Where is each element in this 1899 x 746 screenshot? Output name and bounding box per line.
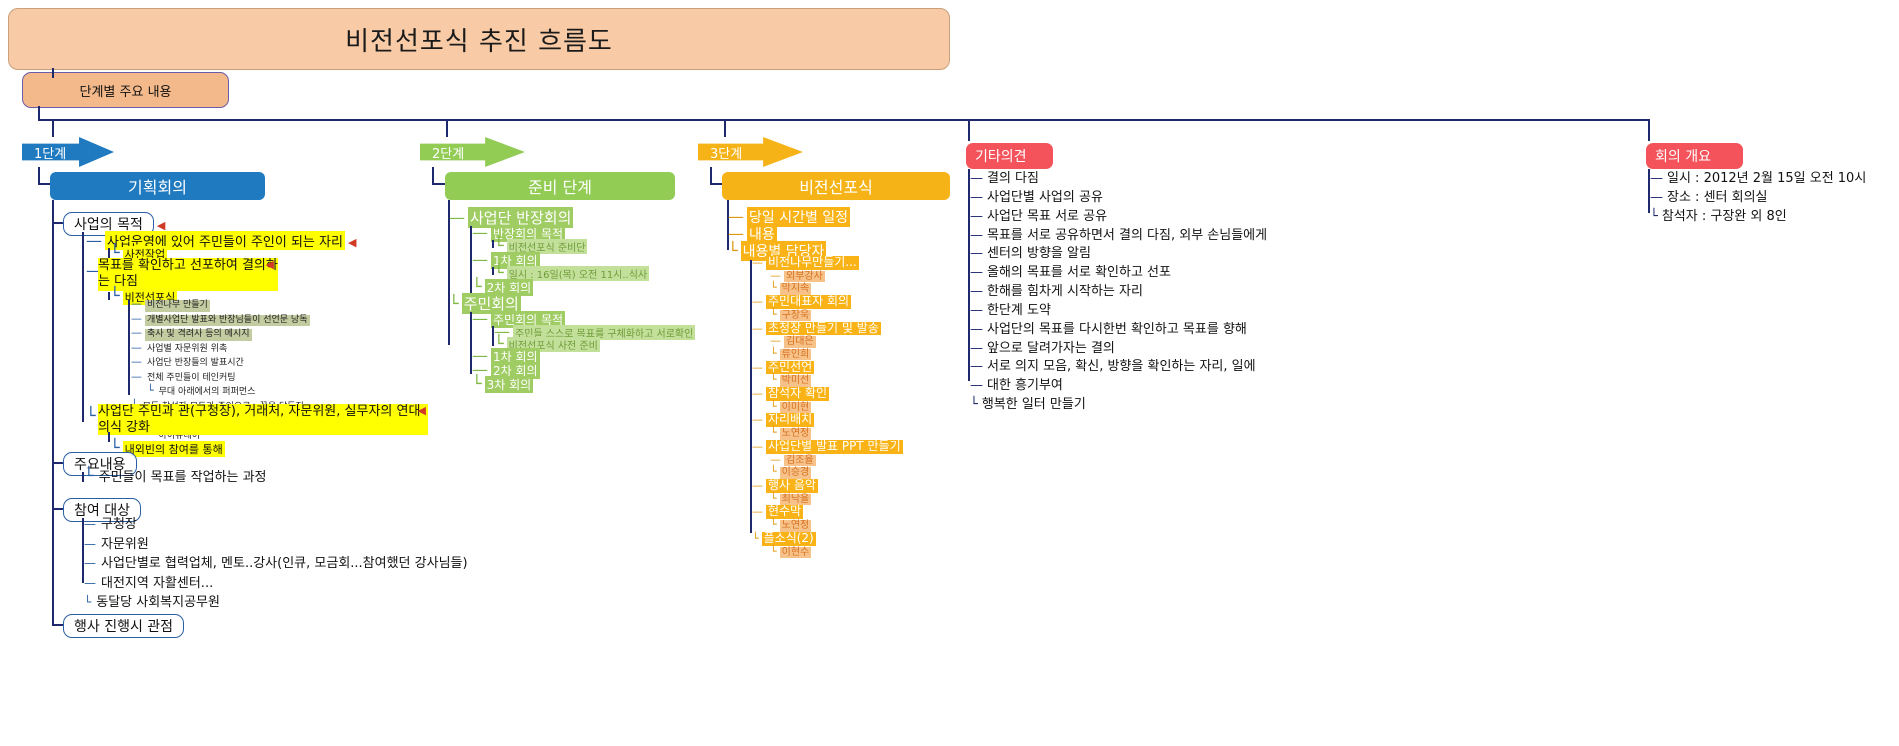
col2-item-2-4-label: 3차 회의 bbox=[485, 376, 534, 393]
connector-bus-stage2 bbox=[446, 119, 448, 137]
list-item-label: 행복한 일터 만들기 bbox=[982, 397, 1086, 412]
stage1-spine bbox=[52, 200, 54, 625]
list-item-label: 목표를 서로 공유하면서 결의 다짐, 외부 손님들에게 bbox=[987, 228, 1267, 243]
col3-owner-list: —비전나무만들기...—외부강사└막지속—주민대표자 회의└구장욱—초청장 만들… bbox=[752, 256, 903, 558]
etc-header[interactable]: 기타의견 bbox=[966, 143, 1053, 169]
col1-node-event-view[interactable]: 행사 진행시 관점 bbox=[63, 614, 184, 638]
etc-list: —결의 다짐—사업단별 사업의 공유—사업단 목표 서로 공유—목표를 서로 공… bbox=[970, 170, 1267, 415]
list-item[interactable]: —사업단의 목표를 다시한번 확인하고 목표를 향해 bbox=[970, 321, 1267, 340]
list-item-label: 참석자 : 구장완 외 8인 bbox=[1662, 209, 1787, 224]
col3-owner-child[interactable]: └노연정 bbox=[752, 427, 903, 440]
col2-item-2-4[interactable]: └3차 회의 bbox=[472, 374, 533, 393]
col3-owner-label: 초청장 만들기 및 발송 bbox=[766, 322, 881, 336]
col1-sub-5: 전체 주민들이 테인커팅 bbox=[145, 373, 238, 385]
connector-bus-stage1 bbox=[52, 119, 54, 137]
col3-owner-label: 비전나무만들기... bbox=[766, 256, 859, 270]
col1-item-1-3[interactable]: └ 사업단 주민과 관(구청장), 거래처, 자문위원, 실무자의 연대의식 강… bbox=[86, 404, 436, 435]
tree-branch-icon: — bbox=[752, 479, 763, 492]
list-item[interactable]: —사업단별 사업의 공유 bbox=[970, 189, 1267, 208]
stage-3-header[interactable]: 비전선포식 bbox=[722, 172, 950, 200]
tree-branch-icon: — bbox=[970, 322, 983, 337]
list-item-label: 올해의 목표를 서로 확인하고 선포 bbox=[987, 265, 1171, 280]
col3-owner-child-label: 류인희 bbox=[780, 349, 812, 361]
tree-branch-icon: — bbox=[752, 256, 763, 269]
list-item-label: 사업단 목표 서로 공유 bbox=[987, 209, 1107, 224]
tree-branch-icon: — bbox=[970, 246, 983, 261]
list-item-label: 장소 : 센터 회의실 bbox=[1667, 190, 1768, 205]
list-item[interactable]: —구청장 bbox=[84, 515, 470, 535]
tree-branch-icon: — bbox=[1650, 171, 1663, 186]
list-item-label: 사업단의 목표를 다시한번 확인하고 목표를 향해 bbox=[987, 322, 1247, 337]
stage-3-arrow[interactable]: 3단계 bbox=[698, 137, 803, 167]
list-item[interactable]: └동달당 사회복지공무원 bbox=[84, 593, 470, 613]
tree-branch-icon: └ bbox=[770, 308, 777, 321]
tree-branch-icon: — bbox=[970, 209, 983, 224]
tree-branch-icon: — bbox=[1650, 190, 1663, 205]
col3-owner-child[interactable]: └구장욱 bbox=[752, 309, 903, 322]
tree-branch-icon: └ bbox=[1650, 209, 1658, 224]
col3-owner-item[interactable]: —참석자 확인 bbox=[752, 387, 903, 401]
tree-branch-icon: └ bbox=[770, 347, 777, 360]
list-item[interactable]: —한해를 힘차게 시작하는 자리 bbox=[970, 283, 1267, 302]
col3-owner-item[interactable]: └플소식(2) bbox=[752, 532, 903, 546]
tree-branch-icon: — bbox=[970, 303, 983, 318]
connector-title-to-sub bbox=[52, 68, 54, 78]
connector-bus-summary bbox=[1648, 119, 1650, 141]
tree-branch-icon: — bbox=[970, 378, 983, 393]
list-item[interactable]: —전체 주민들이 테인커팅 bbox=[131, 370, 310, 385]
col3-owner-item[interactable]: —초청장 만들기 및 발송 bbox=[752, 322, 903, 336]
tree-branch-icon: └ bbox=[770, 426, 777, 439]
list-item[interactable]: —자문위원 bbox=[84, 535, 470, 555]
tree-branch-icon: └ bbox=[770, 492, 777, 505]
flag-icon: ◀ bbox=[266, 258, 274, 272]
col1-sub-1: 개별사업단 발표와 반장님들이 선언문 낭독 bbox=[145, 315, 310, 327]
col1-item-2-1-label: 주민들이 목표를 작업하는 과정 bbox=[97, 466, 269, 485]
col3-owner-label: 사업단별 발표 PPT 만들기 bbox=[766, 440, 903, 454]
col1-item-2-1[interactable]: └주민들이 목표를 작업하는 과정 bbox=[84, 466, 269, 485]
list-item-label: 대한 흥기부여 bbox=[987, 378, 1063, 393]
list-item[interactable]: —사업단별로 협력업체, 멘토..강사(인큐, 모금회...참여했던 강사님들) bbox=[84, 554, 470, 574]
list-item-label: 한해를 힘차게 시작하는 자리 bbox=[987, 284, 1143, 299]
list-item[interactable]: —축사 및 격려사 등의 메시지 bbox=[131, 326, 310, 341]
col1-item-1-3-label: 사업단 주민과 관(구청장), 거래처, 자문위원, 실무자의 연대의식 강화 bbox=[98, 404, 420, 435]
list-item[interactable]: —사업별 자문위원 위촉 bbox=[131, 341, 310, 356]
list-item[interactable]: —개별사업단 발표와 반장님들이 선언문 낭독 bbox=[131, 312, 310, 327]
tree-branch-icon: └ bbox=[770, 465, 777, 478]
col3-owner-child-label: 외부강사 bbox=[784, 271, 825, 283]
diagram-canvas: 비전선포식 추진 흐름도 단계별 주요 내용 1단계 기획회의 사업의 목적◀ … bbox=[0, 0, 1899, 746]
col3-owner-label: 참석자 확인 bbox=[766, 387, 829, 401]
tree-branch-icon: — bbox=[970, 265, 983, 280]
tree-branch-icon: — bbox=[752, 413, 763, 426]
col1-participant-3: 대전지역 자활센터... bbox=[99, 574, 215, 594]
page-title: 비전선포식 추진 흐름도 bbox=[8, 8, 950, 70]
col1-item-1-2-label: 목표를 확인하고 선포하여 결의하는 다짐 bbox=[98, 258, 278, 289]
tree-branch-icon: └ bbox=[970, 397, 978, 412]
list-item[interactable]: —결의 다짐 bbox=[970, 170, 1267, 189]
summary-list: —일시 : 2012년 2월 15일 오전 10시—장소 : 센터 회의실└참석… bbox=[1650, 170, 1866, 227]
tree-branch-icon: — bbox=[752, 361, 763, 374]
tree-branch-icon: — bbox=[970, 228, 983, 243]
list-item-label: 서로 의지 모음, 확신, 방향을 확인하는 자리, 일에 bbox=[987, 359, 1256, 374]
list-item[interactable]: └무대 아래에서의 퍼퍼먼스 bbox=[131, 384, 310, 399]
col1-participant-0: 구청장 bbox=[99, 515, 139, 535]
col3-owner-child-label: 이현수 bbox=[780, 547, 812, 559]
list-item[interactable]: —대전지역 자활센터... bbox=[84, 574, 470, 594]
col3-owner-item[interactable]: —주민대표자 회의 bbox=[752, 295, 903, 309]
summary-header[interactable]: 회의 개요 bbox=[1646, 143, 1743, 169]
stage-2-header[interactable]: 준비 단계 bbox=[445, 172, 675, 200]
col3-owner-child-label: 구장욱 bbox=[780, 310, 812, 322]
connector-sub-to-bus bbox=[38, 106, 40, 120]
list-item[interactable]: —올해의 목표를 서로 확인하고 선포 bbox=[970, 264, 1267, 283]
flag-icon: ◀ bbox=[418, 404, 426, 417]
col3-owner-child[interactable]: └류인희 bbox=[752, 348, 903, 361]
list-item-label: 일시 : 2012년 2월 15일 오전 10시 bbox=[1667, 171, 1866, 186]
list-item[interactable]: —서로 의지 모음, 확신, 방향을 확인하는 자리, 일에 bbox=[970, 358, 1267, 377]
col1-deep-spine bbox=[128, 300, 130, 395]
col1-sub-spine-1 bbox=[82, 232, 84, 422]
list-item-label: 사업단별 사업의 공유 bbox=[987, 190, 1103, 205]
tree-branch-icon: — bbox=[752, 505, 763, 518]
tree-branch-icon: └ bbox=[770, 281, 777, 294]
list-item[interactable]: —대한 흥기부여 bbox=[970, 377, 1267, 396]
list-item-label: 결의 다짐 bbox=[987, 171, 1039, 186]
list-item[interactable]: —앞으로 달려가자는 결의 bbox=[970, 340, 1267, 359]
col3-owner-child-label: 김대은 bbox=[784, 336, 816, 348]
col1-sub-3: 사업별 자문위원 위촉 bbox=[145, 344, 229, 356]
col3-owner-item[interactable]: —비전나무만들기... bbox=[752, 256, 903, 270]
tree-branch-icon: └ bbox=[770, 518, 777, 531]
col3-owner-child[interactable]: └노연정 bbox=[752, 519, 903, 532]
tree-branch-icon: — bbox=[970, 359, 983, 374]
tree-branch-icon: └ bbox=[770, 373, 777, 386]
stage-1-arrow[interactable]: 1단계 bbox=[22, 137, 114, 167]
tree-branch-icon: └ bbox=[752, 532, 759, 545]
tree-branch-icon: └ bbox=[770, 545, 777, 558]
stage-2-arrow[interactable]: 2단계 bbox=[420, 137, 525, 167]
col3-owner-label: 플소식(2) bbox=[762, 532, 816, 546]
tree-branch-icon: — bbox=[752, 387, 763, 400]
tree-branch-icon: — bbox=[752, 295, 763, 308]
tree-branch-icon: — bbox=[970, 190, 983, 205]
tree-branch-icon: — bbox=[970, 171, 983, 186]
tree-branch-icon: — bbox=[770, 269, 781, 282]
col3-owner-item[interactable]: —행사 음악 bbox=[752, 479, 903, 493]
list-item[interactable]: —사업단 반장들의 발표시간 bbox=[131, 355, 310, 370]
tree-branch-icon: — bbox=[970, 341, 983, 356]
col3-owner-child-label: 김조율 bbox=[784, 455, 816, 467]
tree-branch-icon: — bbox=[752, 440, 763, 453]
list-item[interactable]: └참석자 : 구장완 외 8인 bbox=[1650, 208, 1866, 227]
col1-sub-2: 축사 및 격려사 등의 메시지 bbox=[145, 329, 252, 341]
list-item[interactable]: —센터의 방향을 알림 bbox=[970, 245, 1267, 264]
connector-bus-etc bbox=[968, 119, 970, 141]
tree-branch-icon: — bbox=[970, 284, 983, 299]
col1-participant-2: 사업단별로 협력업체, 멘토..강사(인큐, 모금회...참여했던 강사님들) bbox=[99, 554, 470, 574]
connector-stage2-head-h bbox=[432, 183, 446, 185]
col1-sub-0: 비전나무 만들기 bbox=[145, 300, 210, 312]
list-item[interactable]: —사업단 목표 서로 공유 bbox=[970, 208, 1267, 227]
list-item[interactable]: └행복한 일터 만들기 bbox=[970, 396, 1267, 415]
col3-owner-label: 주민대표자 회의 bbox=[766, 295, 851, 309]
col3-owner-child-label: 노연정 bbox=[780, 520, 812, 532]
list-item-label: 한단계 도약 bbox=[987, 303, 1051, 318]
tree-branch-icon: — bbox=[752, 322, 763, 335]
list-item[interactable]: —장소 : 센터 회의실 bbox=[1650, 189, 1866, 208]
list-item-label: 앞으로 달려가자는 결의 bbox=[987, 341, 1115, 356]
list-item[interactable]: —목표를 서로 공유하면서 결의 다짐, 외부 손님들에게 bbox=[970, 227, 1267, 246]
tree-branch-icon: — bbox=[770, 334, 781, 347]
list-item-label: 센터의 방향을 알림 bbox=[987, 246, 1091, 261]
col3-owner-label: 행사 음악 bbox=[766, 479, 818, 493]
flag-icon: ◀ bbox=[348, 236, 356, 249]
col3-owner-item[interactable]: —사업단별 발표 PPT 만들기 bbox=[752, 440, 903, 454]
tree-branch-icon: — bbox=[770, 453, 781, 466]
col1-item-1-3-1-label: 내외빈의 참여를 통해 bbox=[123, 441, 225, 457]
list-item[interactable]: —일시 : 2012년 2월 15일 오전 10시 bbox=[1650, 170, 1866, 189]
col1-participant-4: 동달당 사회복지공무원 bbox=[94, 593, 222, 613]
connector-main-bus bbox=[38, 119, 1650, 121]
list-item[interactable]: —한단계 도약 bbox=[970, 302, 1267, 321]
col1-sub-6: 무대 아래에서의 퍼퍼먼스 bbox=[157, 387, 258, 399]
col1-node-event-view-label: 행사 진행시 관점 bbox=[63, 614, 184, 638]
stage-1-header[interactable]: 기획회의 bbox=[50, 172, 265, 200]
connector-bus-stage3 bbox=[724, 119, 726, 137]
col1-participants-list: —구청장 —자문위원 —사업단별로 협력업체, 멘토..강사(인큐, 모금회..… bbox=[84, 515, 470, 613]
tree-branch-icon: └ bbox=[770, 400, 777, 413]
col3-owner-child[interactable]: └이현수 bbox=[752, 546, 903, 559]
list-item[interactable]: —비전나무 만들기 bbox=[131, 297, 310, 312]
col1-participant-1: 자문위원 bbox=[99, 535, 151, 555]
col1-sub-4: 사업단 반장들의 발표시간 bbox=[145, 358, 246, 370]
